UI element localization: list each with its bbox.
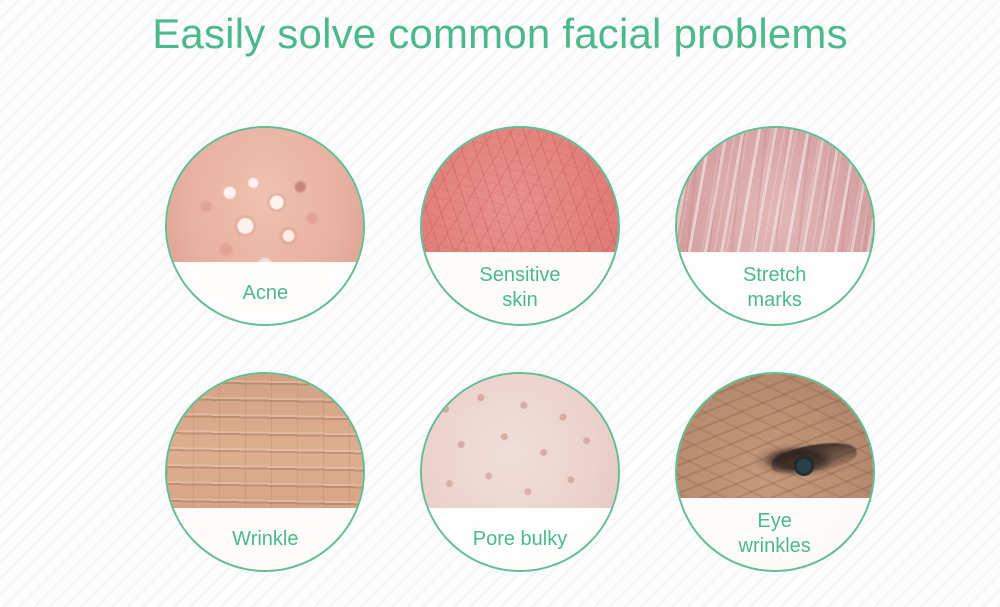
label-strip: Sensitive skin [422, 252, 618, 324]
promo-banner: Easily solve common facial problems Acne… [0, 0, 1000, 607]
problem-card-acne[interactable]: Acne [150, 105, 381, 347]
label-strip: Wrinkle [167, 508, 363, 570]
circle-frame: Sensitive skin [420, 126, 620, 326]
problem-card-eye-wrinkles[interactable]: Eye wrinkles [659, 351, 890, 593]
problem-card-grid: Acne Sensitive skin Stretch marks [150, 105, 890, 593]
circle-frame: Pore bulky [420, 372, 620, 572]
label-strip: Acne [167, 262, 363, 324]
circle-frame: Stretch marks [675, 126, 875, 326]
card-label: Wrinkle [226, 527, 304, 552]
eyelash-detail [769, 437, 858, 478]
card-label: Sensitive skin [473, 263, 566, 313]
label-strip: Pore bulky [422, 508, 618, 570]
circle-frame: Wrinkle [165, 372, 365, 572]
page-title: Easily solve common facial problems [0, 10, 1000, 58]
problem-card-stretch-marks[interactable]: Stretch marks [659, 105, 890, 347]
iris-detail [794, 456, 814, 476]
card-label: Eye wrinkles [733, 509, 817, 559]
card-label: Pore bulky [467, 527, 574, 552]
card-label: Acne [237, 281, 295, 306]
label-strip: Eye wrinkles [677, 498, 873, 570]
label-strip: Stretch marks [677, 252, 873, 324]
card-label: Stretch marks [737, 263, 812, 313]
problem-card-sensitive-skin[interactable]: Sensitive skin [405, 105, 636, 347]
problem-card-pore-bulky[interactable]: Pore bulky [405, 351, 636, 593]
circle-frame: Eye wrinkles [675, 372, 875, 572]
problem-card-wrinkle[interactable]: Wrinkle [150, 351, 381, 593]
circle-frame: Acne [165, 126, 365, 326]
